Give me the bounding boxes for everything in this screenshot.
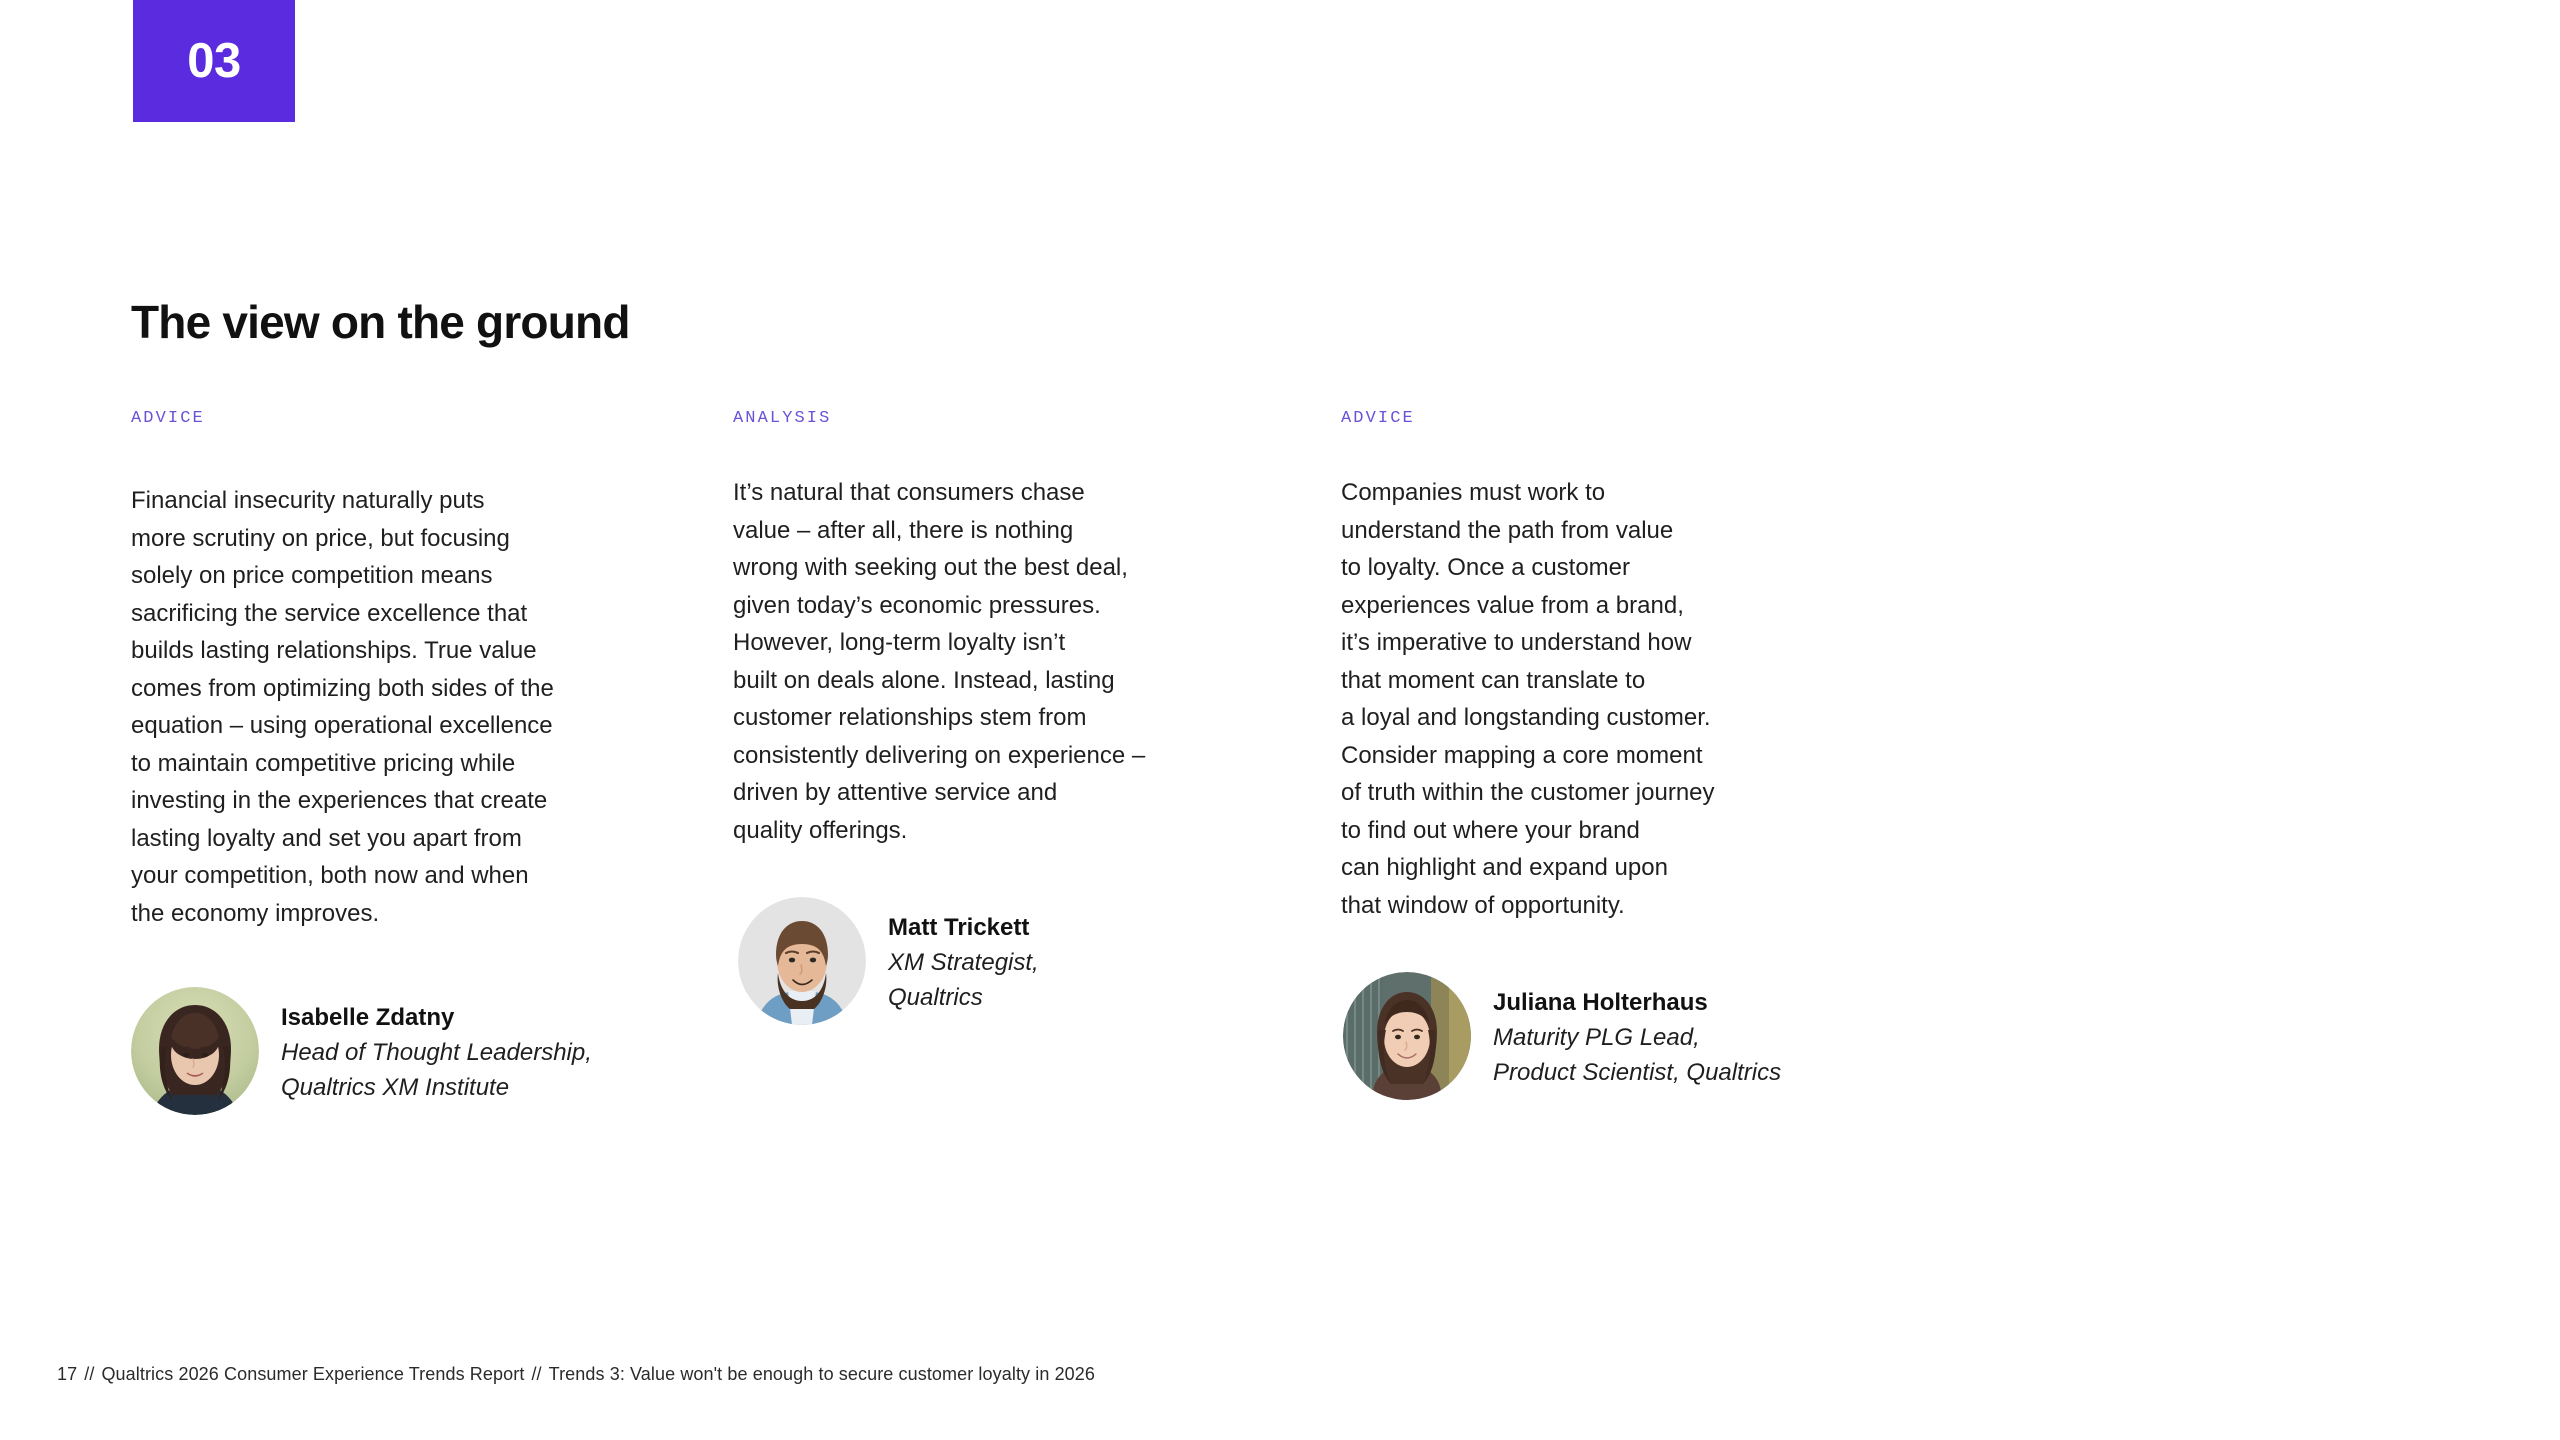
- column-advice-1: ADVICE Financial insecurity naturally pu…: [131, 410, 631, 1115]
- section-number: 03: [187, 37, 241, 86]
- column-kicker: ADVICE: [1341, 410, 1841, 427]
- section-number-badge: 03: [133, 0, 295, 122]
- page-footer: 17//Qualtrics 2026 Consumer Experience T…: [57, 1364, 1095, 1385]
- page-title: The view on the ground: [131, 297, 630, 348]
- footer-page-number: 17: [57, 1364, 77, 1384]
- attribution-matt-trickett: Matt Trickett XM Strategist, Qualtrics: [738, 897, 1208, 1025]
- person-role: Head of Thought Leadership, Qualtrics XM…: [281, 1035, 592, 1105]
- person-name: Matt Trickett: [888, 911, 1039, 945]
- column-analysis-2: ANALYSIS It’s natural that consumers cha…: [733, 410, 1208, 1025]
- avatar-isabelle-zdatny: [131, 987, 259, 1115]
- footer-report-title: Qualtrics 2026 Consumer Experience Trend…: [101, 1364, 524, 1384]
- attribution-text: Matt Trickett XM Strategist, Qualtrics: [888, 897, 1039, 1015]
- footer-separator-1: //: [77, 1364, 101, 1384]
- person-name: Juliana Holterhaus: [1493, 986, 1781, 1020]
- column-body-text: Financial insecurity naturally puts more…: [131, 482, 631, 932]
- footer-separator-2: //: [524, 1364, 548, 1384]
- attribution-isabelle-zdatny: Isabelle Zdatny Head of Thought Leadersh…: [131, 987, 631, 1115]
- attribution-juliana-holterhaus: Juliana Holterhaus Maturity PLG Lead, Pr…: [1343, 972, 1841, 1100]
- person-role: Maturity PLG Lead, Product Scientist, Qu…: [1493, 1020, 1781, 1090]
- attribution-text: Isabelle Zdatny Head of Thought Leadersh…: [281, 987, 592, 1105]
- person-name: Isabelle Zdatny: [281, 1001, 592, 1035]
- column-kicker: ANALYSIS: [733, 410, 1208, 427]
- column-body-text: Companies must work to understand the pa…: [1341, 474, 1841, 924]
- avatar-juliana-holterhaus: [1343, 972, 1471, 1100]
- avatar-matt-trickett: [738, 897, 866, 1025]
- attribution-text: Juliana Holterhaus Maturity PLG Lead, Pr…: [1493, 972, 1781, 1090]
- column-kicker: ADVICE: [131, 410, 631, 427]
- person-role: XM Strategist, Qualtrics: [888, 945, 1039, 1015]
- column-advice-3: ADVICE Companies must work to understand…: [1341, 410, 1841, 1100]
- footer-section-title: Trends 3: Value won't be enough to secur…: [549, 1364, 1095, 1384]
- column-body-text: It’s natural that consumers chase value …: [733, 474, 1208, 849]
